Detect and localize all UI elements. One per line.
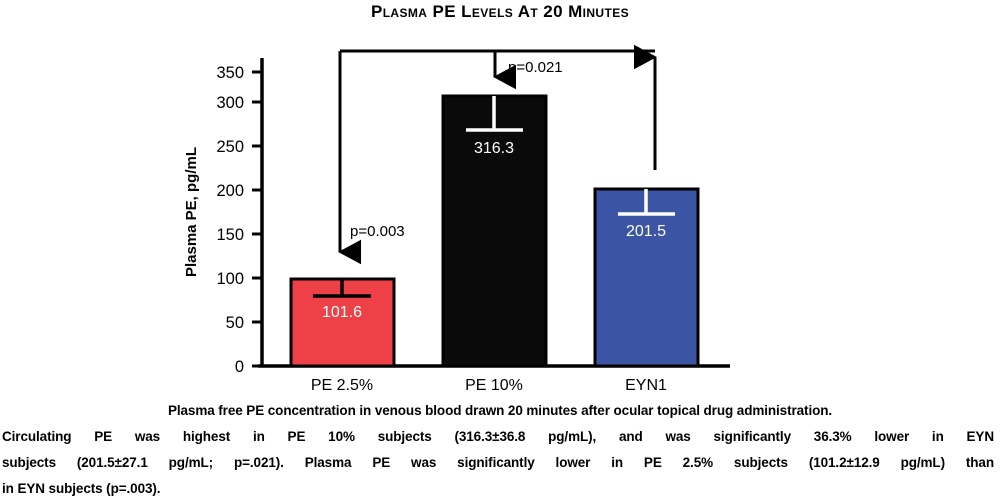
- figure-container: Plasma PE Levels at 20 Minutes 0 50 100 …: [0, 0, 1000, 504]
- caption-line-4: in EYN subjects (p=.003).: [0, 476, 1000, 502]
- y-tick-label-0: 0: [235, 358, 244, 376]
- x-tick-label-pe-2-5: PE 2.5%: [311, 377, 373, 394]
- bar-group-pe-2-5[interactable]: 101.6: [291, 279, 394, 366]
- caption-line-2: Circulating PE was highest in PE 10% sub…: [0, 424, 1000, 450]
- y-tick-label-300: 300: [216, 94, 244, 112]
- y-tick-label-100: 100: [216, 270, 244, 288]
- y-tick-label-250: 250: [216, 138, 244, 156]
- caption-line-3: subjects (201.5±27.1 pg/mL; p=.021). Pla…: [0, 450, 1000, 476]
- y-tick-label-200: 200: [216, 182, 244, 200]
- bar-value-pe-2-5: 101.6: [322, 304, 362, 321]
- caption-line-1: Plasma free PE concentration in venous b…: [0, 398, 1000, 424]
- annotation-label-p0003: p=0.003: [350, 223, 405, 240]
- annotation-label-p0021: p=0.021: [508, 59, 563, 76]
- y-axis-title: Plasma PE, pg/mL: [183, 147, 200, 277]
- bar-pe-10[interactable]: [443, 96, 546, 366]
- bar-group-pe-10[interactable]: 316.3: [443, 96, 546, 366]
- y-tick-label-150: 150: [216, 226, 244, 244]
- x-tick-label-pe-10: PE 10%: [465, 377, 523, 394]
- y-tick-label-350: 350: [216, 64, 244, 82]
- figure-caption: Plasma free PE concentration in venous b…: [0, 398, 1000, 502]
- bar-value-eyn1: 201.5: [626, 223, 666, 240]
- bar-value-pe-10: 316.3: [474, 140, 514, 157]
- y-tick-label-50: 50: [226, 314, 244, 332]
- x-tick-label-eyn1: EYN1: [625, 377, 667, 394]
- bar-group-eyn1[interactable]: 201.5: [595, 189, 698, 366]
- bar-chart: 0 50 100 150 200 250 300 350 Plasma PE, …: [0, 0, 1000, 400]
